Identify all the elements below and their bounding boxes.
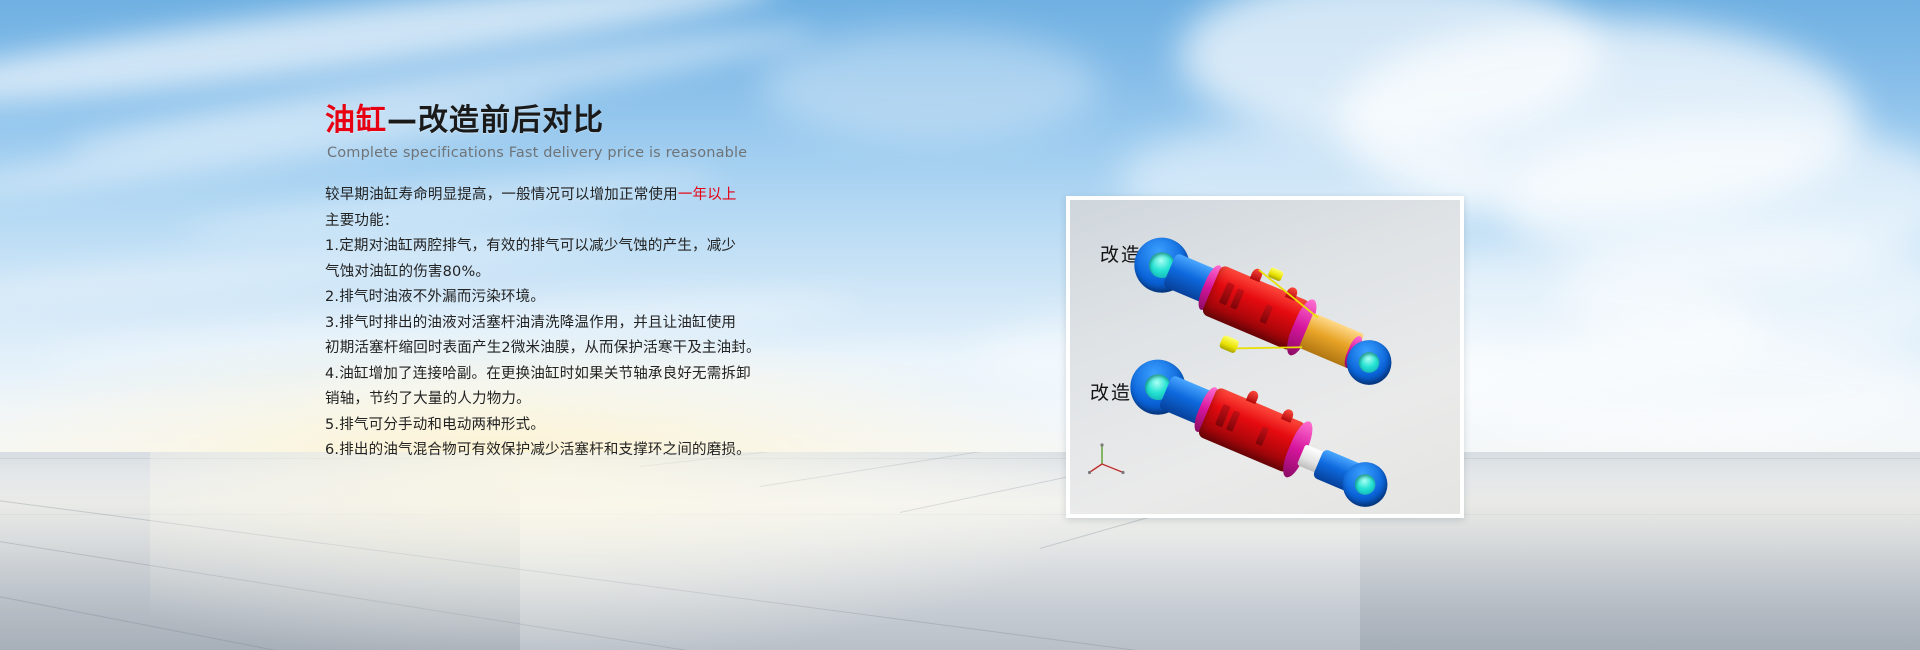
list-item: 5.排气可分手动和电动两种形式。 [325, 413, 1045, 439]
list-item-text: 销轴，节约了大量的人力物力。 [325, 391, 531, 407]
list-item: 2.排气时油液不外漏而污染环境。 [325, 285, 1045, 311]
list-item: 主要功能： [325, 209, 1045, 235]
feature-list: 较早期油缸寿命明显提高，一般情况可以增加正常使用一年以上 主要功能： 1.定期对… [325, 183, 1045, 464]
list-item: 3.排气时排出的油液对活塞杆油清洗降温作用，并且让油缸使用 [325, 311, 1045, 337]
copy-block: 油缸—改造前后对比 Complete specifications Fast d… [325, 104, 1045, 464]
list-item-text: 5.排气可分手动和电动两种形式。 [325, 417, 545, 433]
banner-scene: 油缸—改造前后对比 Complete specifications Fast d… [0, 0, 1920, 650]
page-title: 油缸—改造前后对比 [325, 104, 1045, 138]
list-item-text: 初期活塞杆缩回时表面产生2微米油膜，从而保护活寒干及主油封。 [325, 340, 761, 356]
list-item-text: 较早期油缸寿命明显提高，一般情况可以增加正常使用 [325, 187, 678, 203]
list-item: 1.定期对油缸两腔排气，有效的排气可以减少气蚀的产生，减少 [325, 234, 1045, 260]
page-subtitle: Complete specifications Fast delivery pr… [327, 145, 1045, 161]
page-title-highlight: 油缸 [325, 103, 387, 138]
list-item-text: 6.排出的油气混合物可有效保护减少活塞杆和支撑环之间的磨损。 [325, 442, 751, 458]
list-item-text: 2.排气时油液不外漏而污染环境。 [325, 289, 545, 305]
list-item-text: 4.油缸增加了连接哈副。在更换油缸时如果关节轴承良好无需拆卸 [325, 366, 751, 382]
list-item: 6.排出的油气混合物可有效保护减少活塞杆和支撑环之间的磨损。 [325, 438, 1045, 464]
vent-valve-icon [1219, 335, 1240, 354]
list-item: 初期活塞杆缩回时表面产生2微米油膜，从而保护活寒干及主油封。 [325, 336, 1045, 362]
list-item: 气蚀对油缸的伤害80%。 [325, 260, 1045, 286]
list-item-text: 气蚀对油缸的伤害80%。 [325, 264, 490, 280]
list-item-text: 1.定期对油缸两腔排气，有效的排气可以减少气蚀的产生，减少 [325, 238, 736, 254]
page-title-rest: —改造前后对比 [387, 103, 604, 138]
coordinate-axes-icon [1088, 442, 1134, 478]
product-image-panel[interactable]: 改造后 改造前 [1066, 196, 1464, 518]
tiled-ground [0, 452, 1920, 650]
list-item-highlight: 一年以上 [678, 187, 737, 203]
list-item-text: 3.排气时排出的油液对活塞杆油清洗降温作用，并且让油缸使用 [325, 315, 736, 331]
list-item: 销轴，节约了大量的人力物力。 [325, 387, 1045, 413]
list-item-text: 主要功能： [325, 213, 399, 229]
list-item: 较早期油缸寿命明显提高，一般情况可以增加正常使用一年以上 [325, 183, 1045, 209]
cloud-puff-icon [1420, 330, 1920, 450]
list-item: 4.油缸增加了连接哈副。在更换油缸时如果关节轴承良好无需拆卸 [325, 362, 1045, 388]
